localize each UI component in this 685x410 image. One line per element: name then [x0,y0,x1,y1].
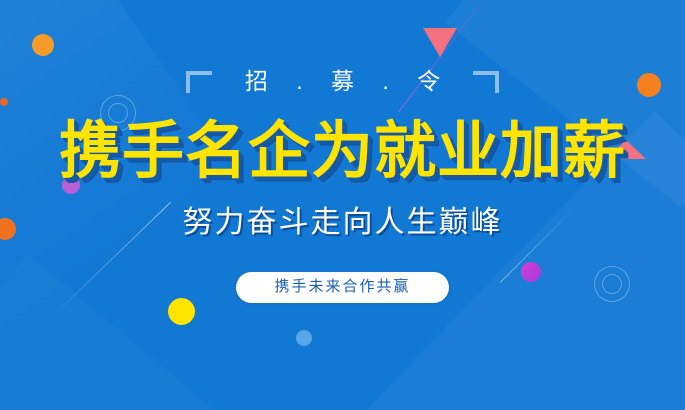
cta-button[interactable]: 携手未来合作共赢 [236,272,448,303]
subheadline-text: 努力奋斗走向人生巅峰 [0,206,685,239]
eyebrow-row: 招 . 募 . 令 [0,70,685,93]
banner-content: 招 . 募 . 令 携手名企为就业加薪 努力奋斗走向人生巅峰 携手未来合作共赢 [0,0,685,410]
eyebrow-label: 招 . 募 . 令 [234,70,451,93]
bracket-right-icon [473,71,499,93]
headline-title: 携手名企为就业加薪 [0,119,685,184]
recruitment-banner: 招 . 募 . 令 携手名企为就业加薪 努力奋斗走向人生巅峰 携手未来合作共赢 [0,0,685,410]
cta-row: 携手未来合作共赢 [0,272,685,303]
bracket-left-icon [186,71,212,93]
